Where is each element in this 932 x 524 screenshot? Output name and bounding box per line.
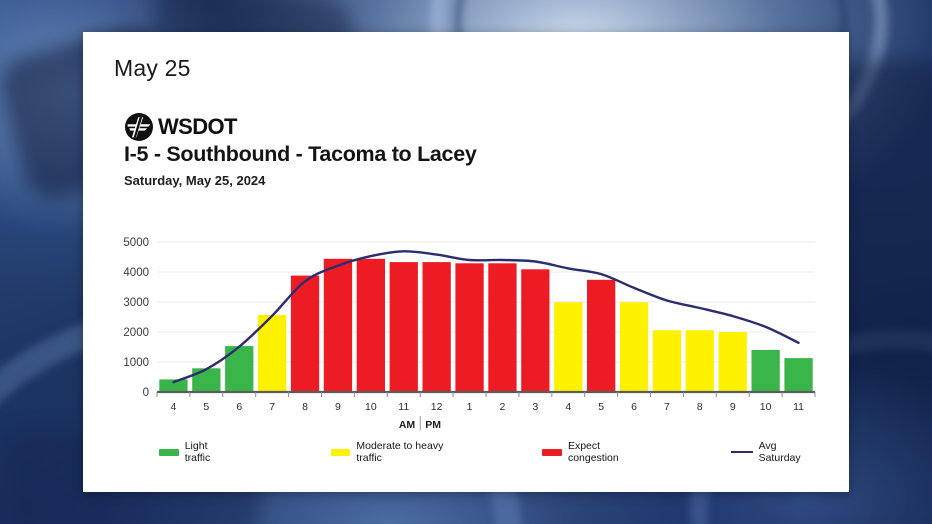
am-label: AM [399,419,416,431]
y-tick-5000: 5000 [123,237,149,249]
x-tick-8-pm: 8 [697,401,703,413]
x-tick-1-pm: 1 [467,401,473,413]
legend-item-avg-saturday: Avg Saturday [731,440,815,464]
slide-card: May 25 WSDOT I-5 - Southbound - Tacoma t… [83,32,849,492]
bar-11 [784,358,812,392]
bar-8 [291,276,319,392]
bar-1 [455,263,483,392]
legend-label-moderate-traffic: Moderate to heavy traffic [356,440,460,464]
legend-label-light-traffic: Light traffic [185,440,231,464]
y-tick-1000: 1000 [123,357,149,369]
legend-item-moderate-traffic: Moderate to heavy traffic [331,440,461,464]
x-tick-9-pm: 9 [730,401,736,413]
x-tick-10-pm: 10 [760,401,772,413]
legend-swatch-line [731,451,753,453]
bar-8 [686,330,714,392]
bar-9 [324,259,352,392]
x-tick-7-pm: 7 [664,401,670,413]
legend-label-avg-saturday: Avg Saturday [759,440,815,464]
bar-12 [423,262,451,392]
x-tick-12-pm: 12 [431,401,443,413]
y-axis-tick-labels: 010002000300040005000 [123,237,149,399]
x-tick-6-am: 6 [236,401,242,413]
x-axis-ticks [157,392,815,397]
wsdot-wordmark: WSDOT [158,114,237,140]
chart-title: I-5 - Southbound - Tacoma to Lacey [124,142,477,167]
y-tick-4000: 4000 [123,267,149,279]
bar-2 [488,263,516,392]
y-tick-0: 0 [143,387,149,399]
bar-9 [719,332,747,392]
x-tick-4-am: 4 [171,401,177,413]
slide-date-label: May 25 [114,55,191,82]
bar-6 [620,302,648,392]
x-tick-10-am: 10 [365,401,377,413]
bar-10 [752,350,780,392]
traffic-chart: 010002000300040005000 456789101112123456… [111,232,821,447]
y-tick-2000: 2000 [123,327,149,339]
bar-7 [653,330,681,392]
legend-swatch-green [159,449,179,456]
bar-10 [357,259,385,392]
x-tick-8-am: 8 [302,401,308,413]
y-tick-3000: 3000 [123,297,149,309]
x-tick-3-pm: 3 [532,401,538,413]
wsdot-logo-icon [124,112,154,142]
x-tick-11-pm: 11 [793,401,804,413]
bar-3 [521,269,549,392]
bar-5 [192,368,220,392]
legend-item-light-traffic: Light traffic [159,440,231,464]
bar-5 [587,280,615,392]
bar-11 [390,262,418,392]
chart-legend: Light traffic Moderate to heavy traffic … [135,440,815,464]
x-tick-7-am: 7 [269,401,275,413]
x-axis-tick-labels: 4567891011121234567891011 [171,401,805,413]
legend-label-expect-congestion: Expect congestion [568,440,645,464]
chart-canvas: 010002000300040005000 456789101112123456… [111,232,821,447]
legend-item-expect-congestion: Expect congestion [542,440,645,464]
bar-series [159,259,812,392]
x-tick-4-pm: 4 [565,401,571,413]
bar-4 [554,302,582,392]
x-tick-9-am: 9 [335,401,341,413]
chart-subtitle: Saturday, May 25, 2024 [124,173,265,188]
x-tick-5-am: 5 [203,401,209,413]
x-tick-11-am: 11 [398,401,409,413]
pm-label: PM [425,419,441,431]
legend-swatch-red [542,449,562,456]
x-tick-5-pm: 5 [598,401,604,413]
legend-swatch-yellow [331,449,351,456]
wsdot-brand: WSDOT [124,112,237,142]
x-tick-6-pm: 6 [631,401,637,413]
x-tick-2-pm: 2 [500,401,506,413]
